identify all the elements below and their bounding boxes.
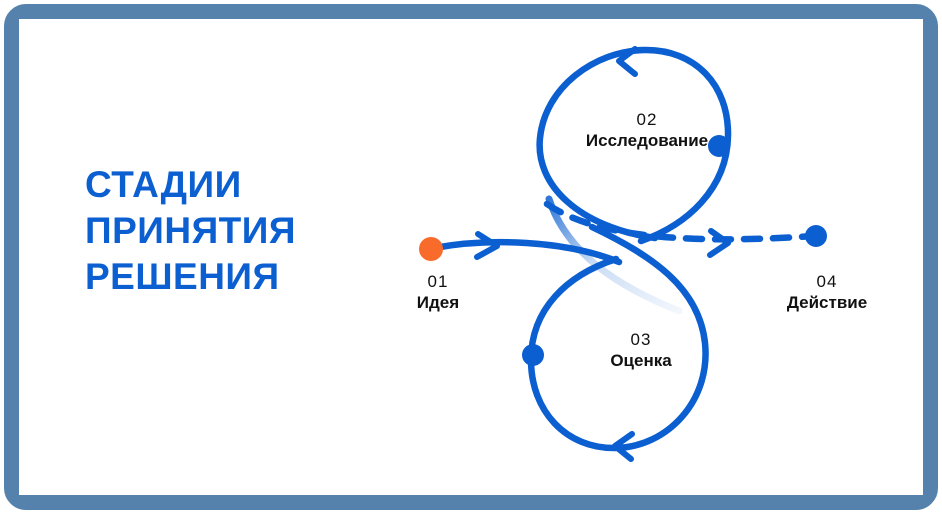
node-marker-01-dot	[419, 237, 443, 261]
step-number-02: 02	[557, 109, 737, 130]
step-number-01: 01	[378, 271, 498, 292]
slide-canvas: Стадии принятия решения	[19, 19, 923, 495]
node-marker-04-dot	[805, 225, 827, 247]
step-label-01: 01 Идея	[378, 271, 498, 313]
step-number-04: 04	[737, 271, 917, 292]
faded-connector-curve	[549, 199, 679, 311]
step-label-02: 02 Исследование	[557, 109, 737, 151]
arrowhead-exit-icon	[710, 231, 728, 255]
process-loop-diagram	[19, 19, 923, 495]
step-name-02: Исследование	[557, 130, 737, 151]
step-label-03: 03 Оценка	[561, 329, 721, 371]
slide-root: Стадии принятия решения	[0, 0, 942, 514]
node-marker-03-dot	[522, 344, 544, 366]
step-number-03: 03	[561, 329, 721, 350]
step-name-01: Идея	[378, 292, 498, 313]
step-name-04: Действие	[737, 292, 917, 313]
step-name-03: Оценка	[561, 350, 721, 371]
step-label-04: 04 Действие	[737, 271, 917, 313]
